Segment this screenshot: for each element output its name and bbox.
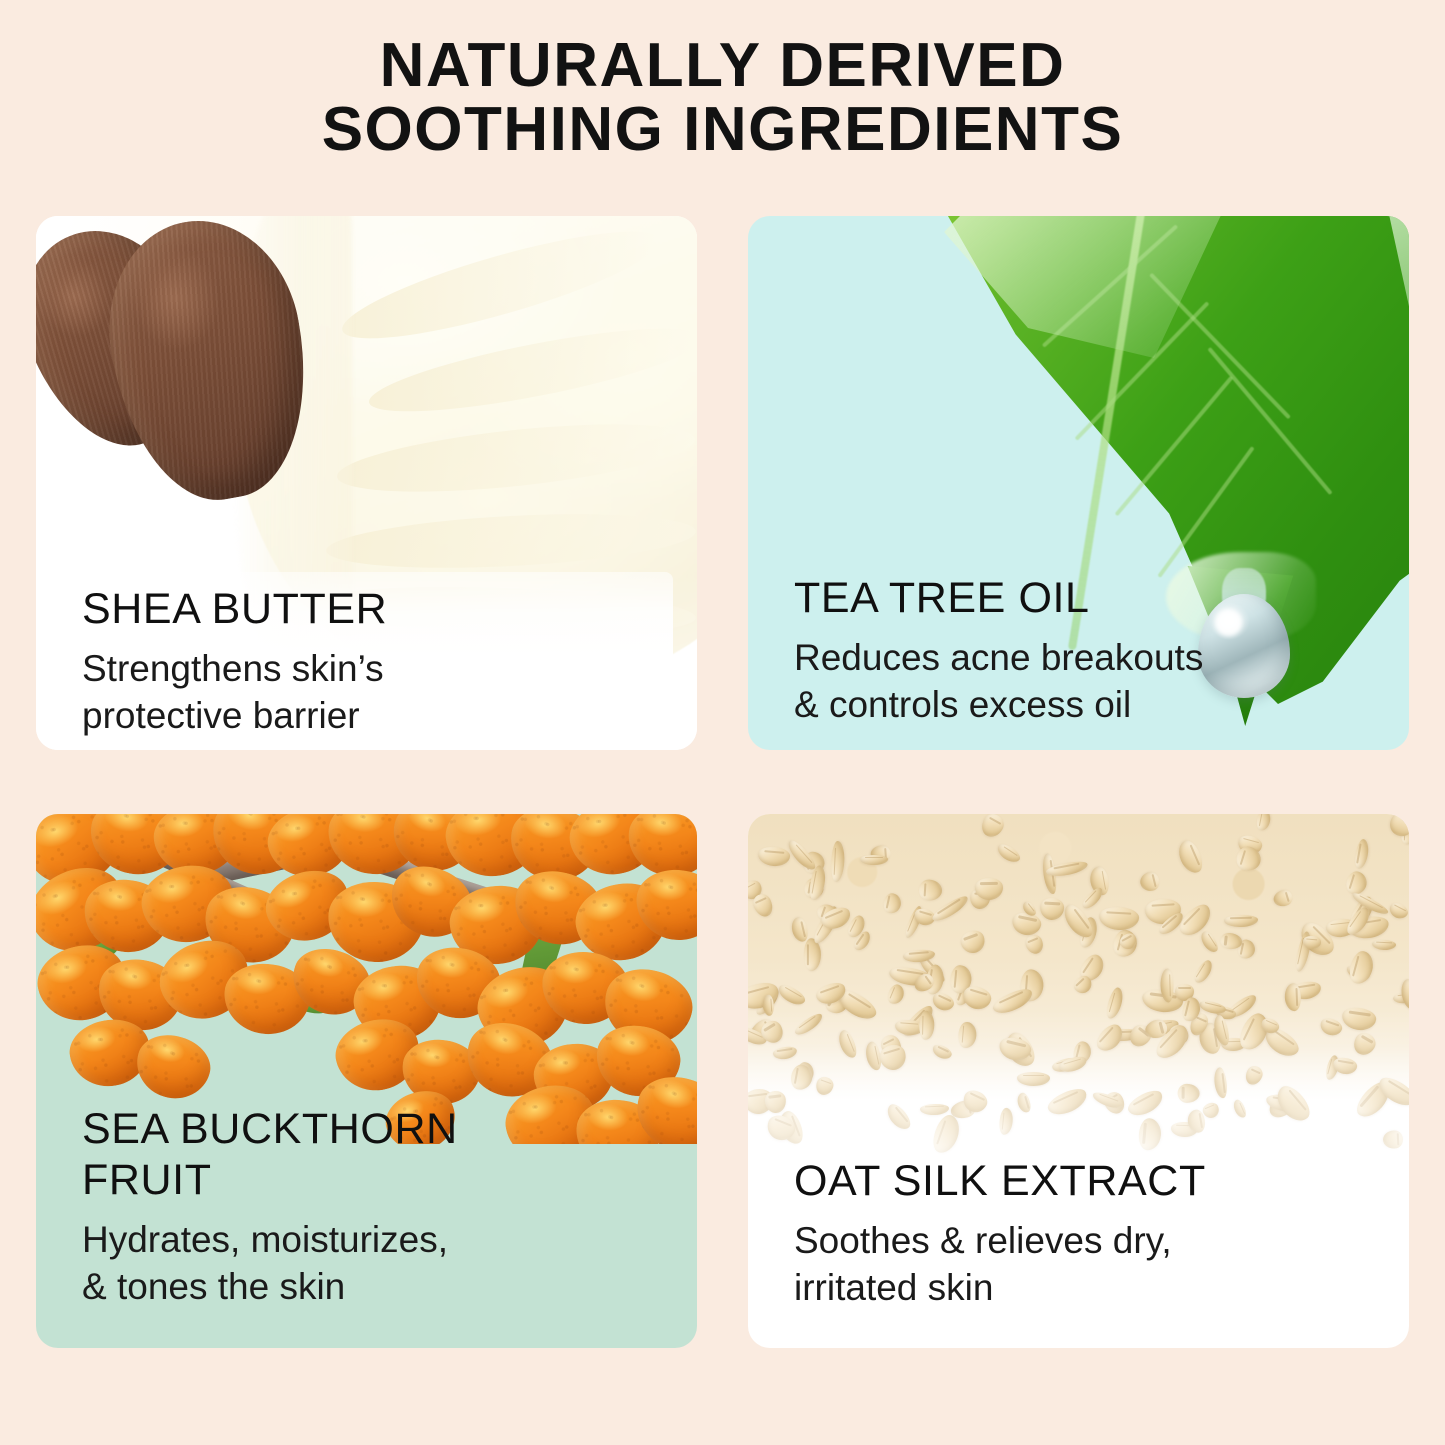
oat-silk-description: Soothes & relieves dry, irritated skin (794, 1217, 1379, 1311)
shea-butter-caption: SHEA BUTTER Strengthens skin’s protectiv… (82, 572, 673, 750)
ingredient-card-oat-silk-extract[interactable]: OAT SILK EXTRACT Soothes & relieves dry,… (748, 814, 1409, 1348)
oat-silk-title: OAT SILK EXTRACT (794, 1156, 1379, 1207)
oat-flake-icon (1137, 1117, 1162, 1151)
oat-flake-icon (999, 1108, 1015, 1136)
tea-tree-oil-title: TEA TREE OIL (794, 573, 1379, 624)
oat-flake-icon (883, 1101, 914, 1134)
oat-flakes-image (748, 814, 1409, 1194)
oat-flake-icon (1383, 1130, 1403, 1149)
tea-tree-oil-description: Reduces acne breakouts & controls excess… (794, 634, 1379, 728)
oat-flake-icon (1232, 1098, 1249, 1120)
sea-buckthorn-caption: SEA BUCKTHORN FRUIT Hydrates, moisturize… (82, 1104, 667, 1310)
shea-butter-description: Strengthens skin’s protective barrier (82, 645, 673, 739)
page-title-line-1: NATURALLY DERIVED (0, 34, 1445, 98)
oat-silk-caption: OAT SILK EXTRACT Soothes & relieves dry,… (794, 1156, 1379, 1311)
ingredient-card-shea-butter[interactable]: SHEA BUTTER Strengthens skin’s protectiv… (36, 216, 697, 750)
shea-butter-title: SHEA BUTTER (82, 584, 673, 635)
sea-buckthorn-description: Hydrates, moisturizes, & tones the skin (82, 1216, 667, 1310)
ingredient-card-sea-buckthorn-fruit[interactable]: SEA BUCKTHORN FRUIT Hydrates, moisturize… (36, 814, 697, 1348)
oat-flake-icon (929, 1113, 963, 1157)
sea-buckthorn-title: SEA BUCKTHORN FRUIT (82, 1104, 667, 1206)
oat-flake-icon (1178, 1083, 1200, 1103)
page-title-line-2: SOOTHING INGREDIENTS (0, 98, 1445, 162)
sea-buckthorn-image (36, 814, 697, 1144)
tea-tree-oil-caption: TEA TREE OIL Reduces acne breakouts & co… (794, 573, 1379, 728)
ingredient-card-tea-tree-oil[interactable]: TEA TREE OIL Reduces acne breakouts & co… (748, 216, 1409, 750)
ingredient-card-grid: SHEA BUTTER Strengthens skin’s protectiv… (36, 216, 1409, 1348)
page-title: NATURALLY DERIVED SOOTHING INGREDIENTS (0, 34, 1445, 162)
oat-flake-icon (1016, 1071, 1049, 1085)
oat-flake-icon (920, 1104, 949, 1116)
